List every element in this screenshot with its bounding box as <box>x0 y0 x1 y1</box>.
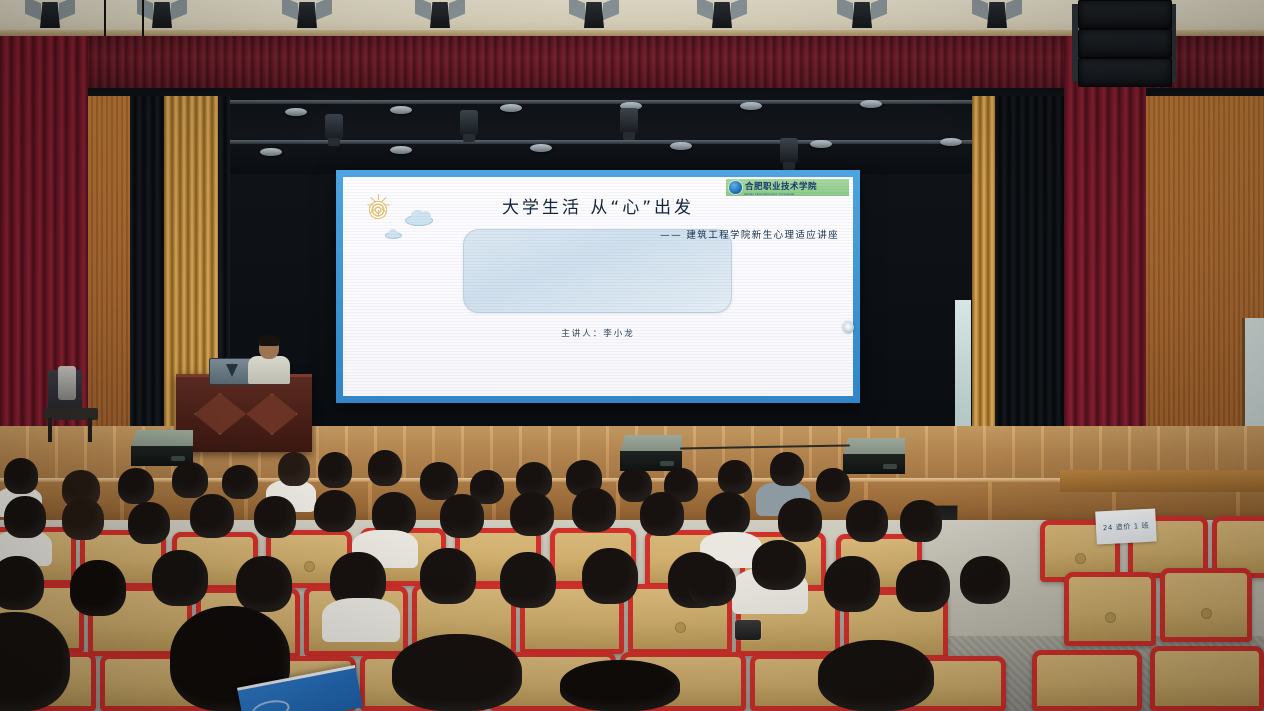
stage-spotlight-icon <box>975 0 1019 30</box>
audience-member <box>778 498 822 542</box>
seat-class-sign-text: 24 造价 1 班 <box>1103 520 1150 532</box>
side-chair <box>44 370 100 442</box>
pot-light-icon <box>810 140 832 148</box>
audience-member <box>718 460 752 494</box>
podium <box>176 374 312 452</box>
audience-member <box>640 492 684 536</box>
audience-member <box>510 492 554 536</box>
audience-member <box>222 465 258 499</box>
audience-member <box>846 500 888 542</box>
audience-member <box>824 556 880 612</box>
audience-member <box>236 556 292 612</box>
audience-member <box>420 548 476 604</box>
slide-title: 大学生活 从“心”出发 <box>343 193 853 218</box>
audience-member <box>368 450 402 486</box>
audience-member <box>322 598 400 642</box>
speaker-presenter <box>248 336 290 382</box>
audience-member <box>4 458 38 494</box>
audience-member <box>900 500 942 542</box>
audience-member <box>960 556 1010 604</box>
cloud-doodle-icon <box>385 232 402 239</box>
stage-spotlight-icon <box>700 0 744 30</box>
audience-member <box>440 494 484 538</box>
stage-spotlight-icon <box>572 0 616 30</box>
audience-member <box>278 452 310 486</box>
auditorium-seat[interactable] <box>1150 646 1264 711</box>
truss-spotlight-icon <box>325 114 343 140</box>
truss-spotlight-icon <box>460 110 478 136</box>
pot-light-icon <box>940 138 962 146</box>
truss-spotlight-icon <box>620 108 638 134</box>
audience-member <box>560 660 680 711</box>
audience-member <box>190 494 234 538</box>
pot-light-icon <box>390 146 412 154</box>
audience-member <box>896 560 950 612</box>
floor-wedge-monitor <box>843 438 905 474</box>
audience-member <box>770 452 804 486</box>
pot-light-icon <box>860 100 882 108</box>
pot-light-icon <box>390 106 412 114</box>
audience-member <box>688 560 736 606</box>
college-logo-text: 合肥职业技术学院 <box>745 183 817 192</box>
audience-member <box>128 502 170 544</box>
audience-member <box>816 468 850 502</box>
floor-wedge-monitor <box>131 430 193 466</box>
pot-light-icon <box>500 104 522 112</box>
pot-light-icon <box>530 144 552 152</box>
stage-spotlight-icon <box>140 0 184 30</box>
stage-spotlight-icon <box>28 0 72 30</box>
auditorium-photo: 合肥职业技术学院 HEFEI TECHNOLOGY COLLEGE 大学生活 从… <box>0 0 1264 711</box>
audience-member <box>752 540 806 590</box>
audience-member <box>582 548 638 604</box>
seat-class-sign: 24 造价 1 班 <box>1095 508 1157 544</box>
pot-light-icon <box>740 102 762 110</box>
audience-member <box>318 452 352 488</box>
draped-jacket <box>58 366 76 400</box>
led-screen: 合肥职业技术学院 HEFEI TECHNOLOGY COLLEGE 大学生活 从… <box>336 170 860 403</box>
audience-member <box>152 550 208 606</box>
audience-member <box>572 488 616 532</box>
line-array-speaker <box>1078 0 1170 86</box>
presentation-slide: 合肥职业技术学院 HEFEI TECHNOLOGY COLLEGE 大学生活 从… <box>343 177 853 396</box>
pot-light-icon <box>670 142 692 150</box>
audience-member <box>118 468 154 504</box>
stage-spotlight-icon <box>285 0 329 30</box>
audience-member <box>420 462 458 500</box>
pot-light-icon <box>260 148 282 156</box>
audience-member <box>172 462 208 498</box>
audience-member <box>62 498 104 540</box>
auditorium-seat[interactable] <box>1160 568 1252 642</box>
audience-member <box>706 492 750 536</box>
stage-spotlight-icon <box>418 0 462 30</box>
auditorium-seat[interactable] <box>1032 650 1142 711</box>
ir-sensor-icon <box>843 322 854 333</box>
slide-subtitle: —— 建筑工程学院新生心理适应讲座 <box>660 227 839 241</box>
truss-spotlight-icon <box>780 138 798 164</box>
slide-presenter: 主讲人：李小龙 <box>343 327 853 339</box>
auditorium-seat[interactable] <box>1064 572 1156 646</box>
audience-member <box>314 490 356 532</box>
audience-member <box>500 552 556 608</box>
audience-member <box>4 496 46 538</box>
audience-member <box>254 496 296 538</box>
smartphone[interactable] <box>735 620 761 640</box>
pot-light-icon <box>285 108 307 116</box>
audience-member <box>818 640 934 711</box>
stage-step <box>1060 470 1264 492</box>
stage-spotlight-icon <box>840 0 884 30</box>
audience-member <box>392 634 522 711</box>
audience-member <box>0 556 44 610</box>
slide-title-box <box>463 229 732 313</box>
audience-member <box>70 560 126 616</box>
floor-wedge-monitor <box>620 435 682 471</box>
